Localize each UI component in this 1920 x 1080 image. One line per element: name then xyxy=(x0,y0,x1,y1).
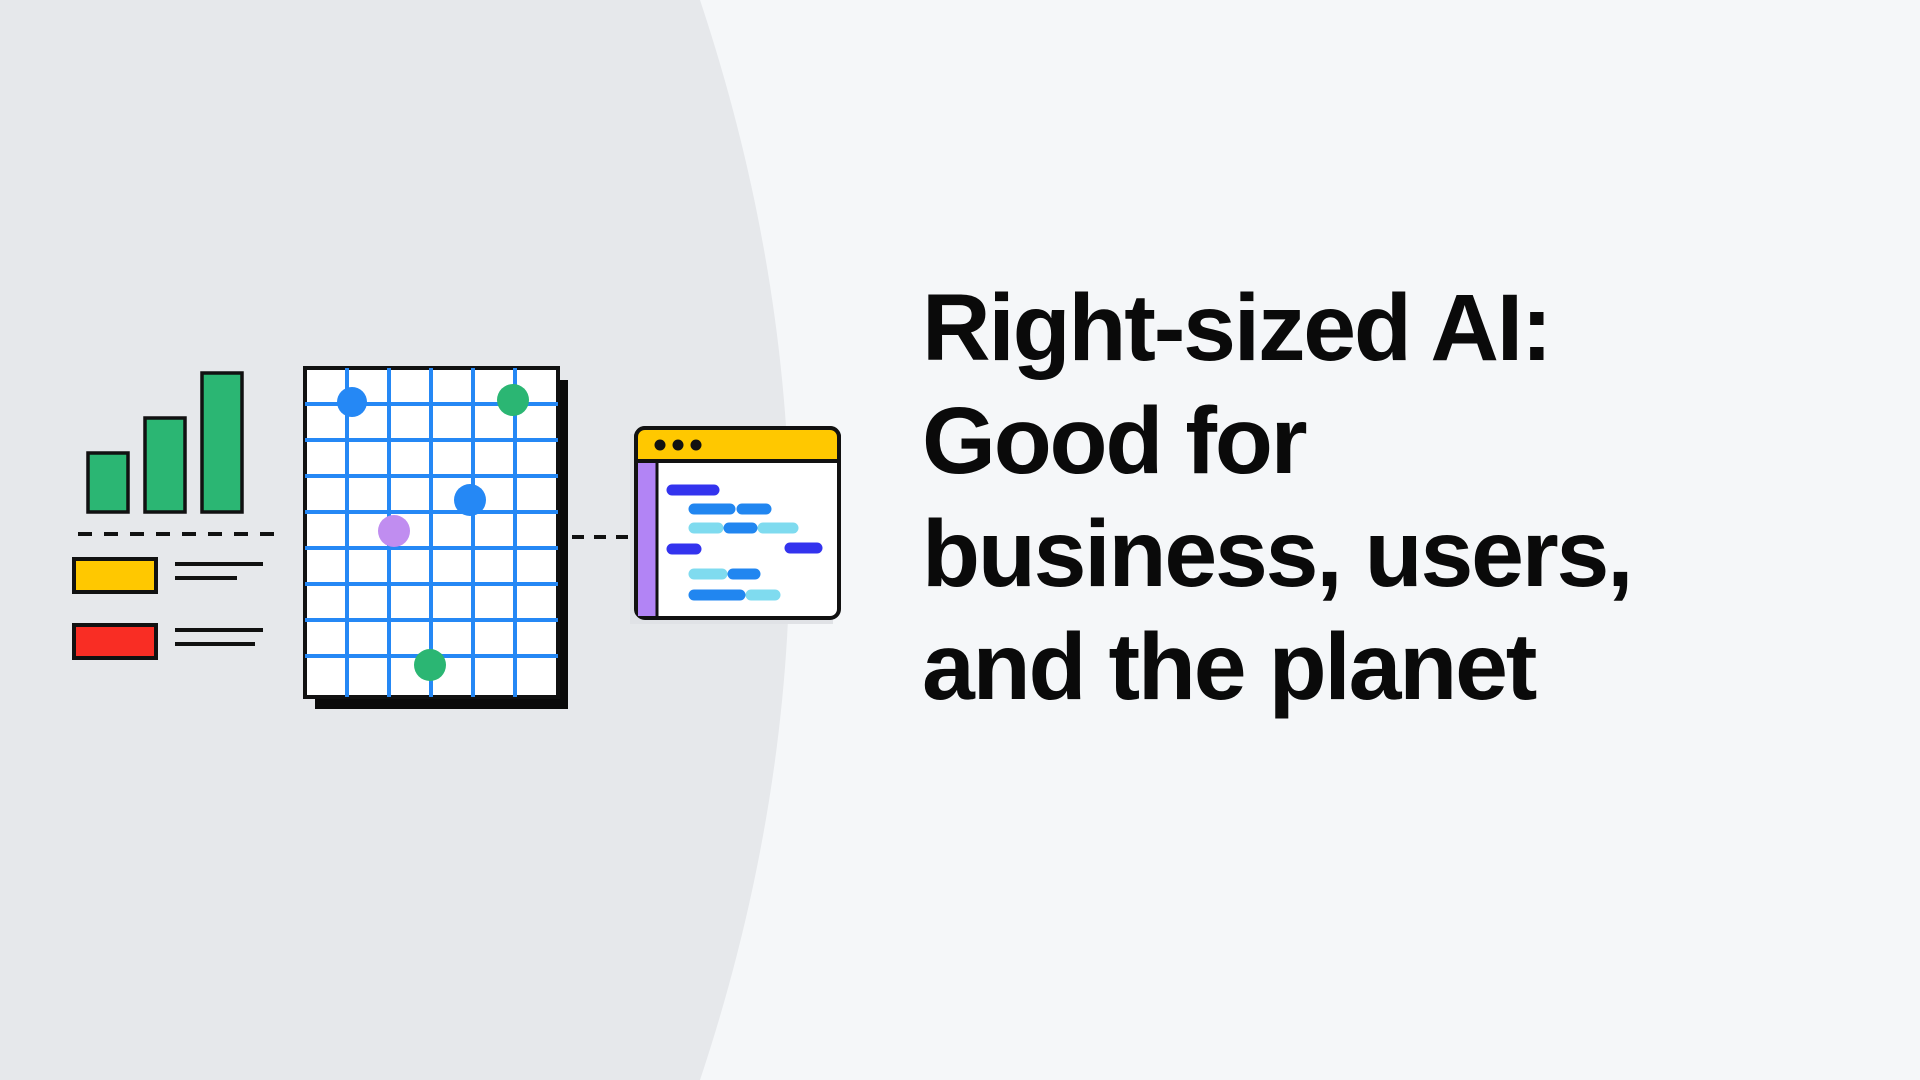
code-browser-window xyxy=(630,428,839,624)
browser-window-sidebar xyxy=(638,463,656,616)
hero-banner: Right-sized AI: Good for business, users… xyxy=(0,0,1920,1080)
legend-group xyxy=(74,559,263,658)
bar-chart-group xyxy=(78,373,282,534)
bar-chart-bar-2 xyxy=(145,418,185,512)
right-sized-ai-illustration xyxy=(0,0,900,1080)
legend-swatch-red xyxy=(74,625,156,658)
scatter-dot-blue-1 xyxy=(337,387,367,417)
scatter-dot-green-1 xyxy=(497,384,529,416)
scatter-dot-purple-1 xyxy=(378,515,410,547)
legend-swatch-yellow xyxy=(74,559,156,592)
browser-window-dot-2 xyxy=(673,440,684,451)
bar-chart-bar-1 xyxy=(88,453,128,512)
page-title: Right-sized AI: Good for business, users… xyxy=(922,272,1802,724)
legend-row-yellow xyxy=(74,559,263,592)
legend-row-red xyxy=(74,625,263,658)
bar-chart-bar-3 xyxy=(202,373,242,512)
scatter-grid-chart xyxy=(305,368,568,709)
browser-window-titlebar xyxy=(636,428,839,461)
browser-window-dot-3 xyxy=(691,440,702,451)
scatter-dot-blue-2 xyxy=(454,484,486,516)
scatter-dot-green-2 xyxy=(414,649,446,681)
browser-window-dot-1 xyxy=(655,440,666,451)
